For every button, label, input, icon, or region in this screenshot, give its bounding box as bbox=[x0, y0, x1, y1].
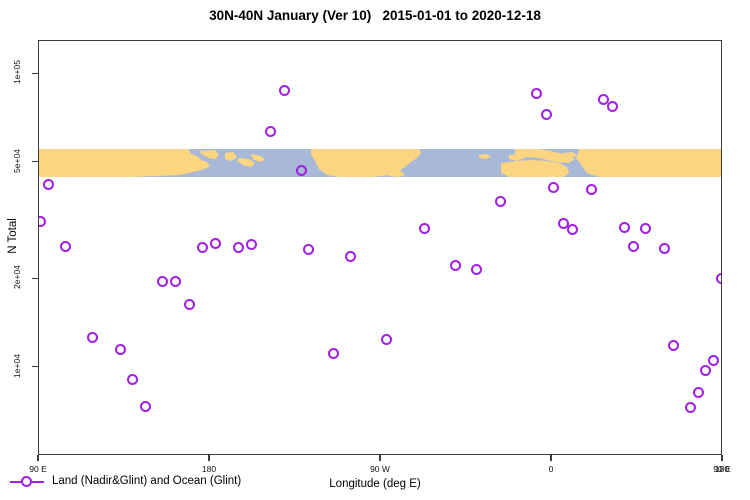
data-point bbox=[246, 239, 257, 250]
data-point bbox=[296, 165, 307, 176]
figure-canvas: 30N-40N January (Ver 10) 2015-01-01 to 2… bbox=[0, 0, 750, 500]
data-point bbox=[345, 251, 356, 262]
data-point bbox=[265, 126, 276, 137]
y-tick-label: 5e+04 bbox=[12, 148, 22, 174]
data-point bbox=[303, 244, 314, 255]
data-point bbox=[450, 260, 461, 271]
legend-circle-icon bbox=[21, 476, 32, 487]
legend-label: Land (Nadir&Glint) and Ocean (Glint) bbox=[52, 475, 241, 487]
data-point bbox=[708, 355, 719, 366]
data-point bbox=[157, 276, 168, 287]
x-tick-label: 180 bbox=[715, 464, 729, 474]
x-tick-label: 90 W bbox=[370, 464, 390, 474]
data-point bbox=[668, 340, 679, 351]
data-point bbox=[279, 85, 290, 96]
data-point bbox=[716, 273, 722, 284]
data-point bbox=[471, 264, 482, 275]
data-point bbox=[548, 182, 559, 193]
data-point bbox=[60, 241, 71, 252]
x-tick-mark bbox=[550, 455, 551, 461]
plot-area bbox=[38, 40, 722, 455]
y-tick-label: 2e+04 bbox=[12, 264, 22, 290]
data-point bbox=[87, 332, 98, 343]
data-point bbox=[628, 241, 639, 252]
data-point bbox=[567, 224, 578, 235]
data-point bbox=[619, 222, 630, 233]
y-tick-label: 1e+04 bbox=[12, 353, 22, 379]
data-point bbox=[700, 365, 711, 376]
chart-title: 30N-40N January (Ver 10) 2015-01-01 to 2… bbox=[0, 8, 750, 23]
data-point bbox=[197, 242, 208, 253]
data-point bbox=[115, 344, 126, 355]
x-tick-mark bbox=[37, 455, 38, 461]
data-point bbox=[607, 101, 618, 112]
chart-legend: Land (Nadir&Glint) and Ocean (Glint) bbox=[4, 470, 247, 492]
y-tick-label: 1e+05 bbox=[12, 59, 22, 85]
data-point bbox=[210, 238, 221, 249]
data-point bbox=[170, 276, 181, 287]
y-axis-title: N Total bbox=[7, 201, 19, 271]
data-point bbox=[541, 109, 552, 120]
data-point bbox=[659, 243, 670, 254]
land-shapes bbox=[39, 149, 722, 177]
map-band-svg bbox=[39, 149, 722, 177]
x-tick-mark bbox=[208, 455, 209, 461]
data-point bbox=[140, 401, 151, 412]
data-point bbox=[586, 184, 597, 195]
x-tick-label: 0 bbox=[549, 464, 554, 474]
data-point bbox=[184, 299, 195, 310]
data-point bbox=[640, 223, 651, 234]
data-point bbox=[328, 348, 339, 359]
data-point bbox=[531, 88, 542, 99]
data-point bbox=[419, 223, 430, 234]
land-polygon bbox=[577, 149, 722, 177]
legend-marker bbox=[10, 476, 44, 487]
world-map-band bbox=[39, 149, 722, 177]
x-tick-mark bbox=[721, 455, 722, 461]
land-polygon bbox=[39, 149, 210, 177]
x-tick-mark bbox=[379, 455, 380, 461]
data-point bbox=[381, 334, 392, 345]
data-point bbox=[127, 374, 138, 385]
data-point bbox=[685, 402, 696, 413]
data-point bbox=[38, 216, 46, 227]
data-point bbox=[495, 196, 506, 207]
data-point bbox=[43, 179, 54, 190]
data-point bbox=[233, 242, 244, 253]
data-point bbox=[693, 387, 704, 398]
